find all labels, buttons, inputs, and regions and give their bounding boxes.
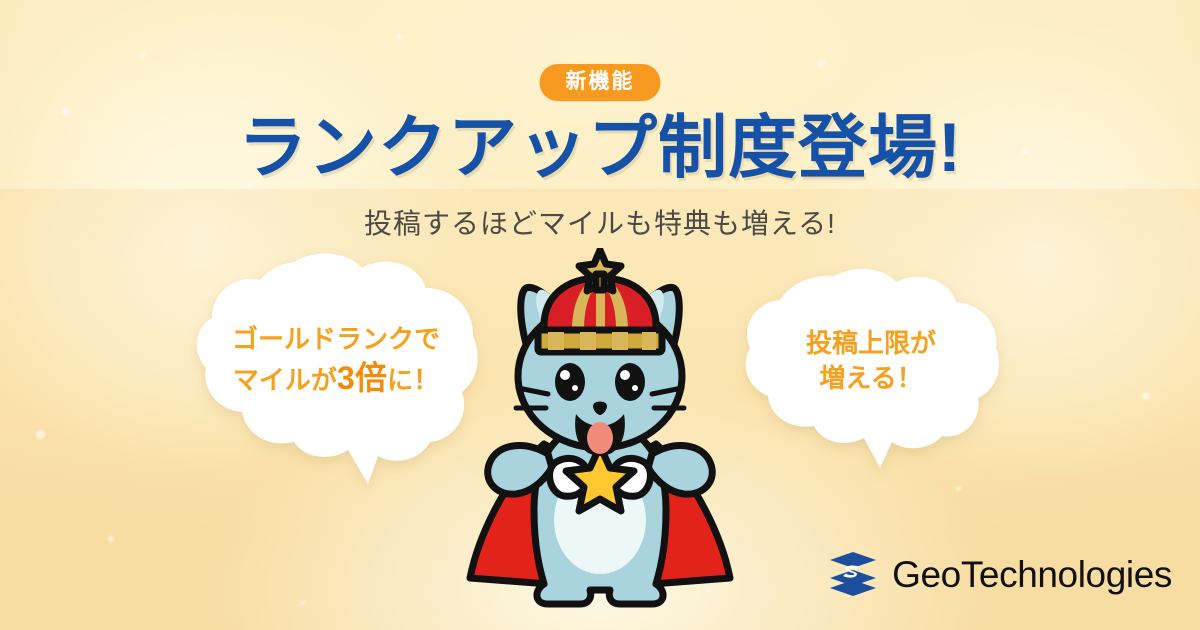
brand-logo: GeoTechnologies	[828, 550, 1172, 598]
bubble-left-line1: ゴールドランクで	[190, 322, 482, 357]
speech-bubble-right-text: 投稿上限が 増える！	[738, 326, 1004, 396]
stacked-layers-logo-icon	[828, 550, 878, 598]
mascot-cat-illustration	[452, 248, 748, 630]
page-subtitle: 投稿するほどマイルも特典も増える!	[0, 207, 1200, 241]
new-feature-badge: 新機能	[540, 64, 661, 101]
bubble-right-line1: 投稿上限が	[738, 326, 1004, 361]
bubble-right-line2: 増える！	[738, 361, 1004, 396]
crown	[538, 250, 662, 352]
page-title: ランクアップ制度登場!	[0, 112, 1200, 184]
promo-banner: 新機能 ランクアップ制度登場! 投稿するほどマイルも特典も増える! ゴールドラン…	[0, 0, 1200, 630]
cat-tongue	[587, 422, 613, 454]
speech-bubble-left-text: ゴールドランクで マイルが3倍に！	[190, 322, 482, 401]
speech-bubble-left: ゴールドランクで マイルが3倍に！	[190, 252, 482, 484]
bubble-left-line2-pre: マイルが	[233, 365, 337, 395]
bubble-left-emphasis: 3倍	[337, 360, 387, 396]
bubble-left-line2-post: に！	[387, 365, 439, 395]
speech-bubble-right: 投稿上限が 増える！	[738, 268, 1004, 468]
brand-name: GeoTechnologies	[892, 556, 1172, 593]
bubble-left-line2: マイルが3倍に！	[190, 357, 482, 401]
